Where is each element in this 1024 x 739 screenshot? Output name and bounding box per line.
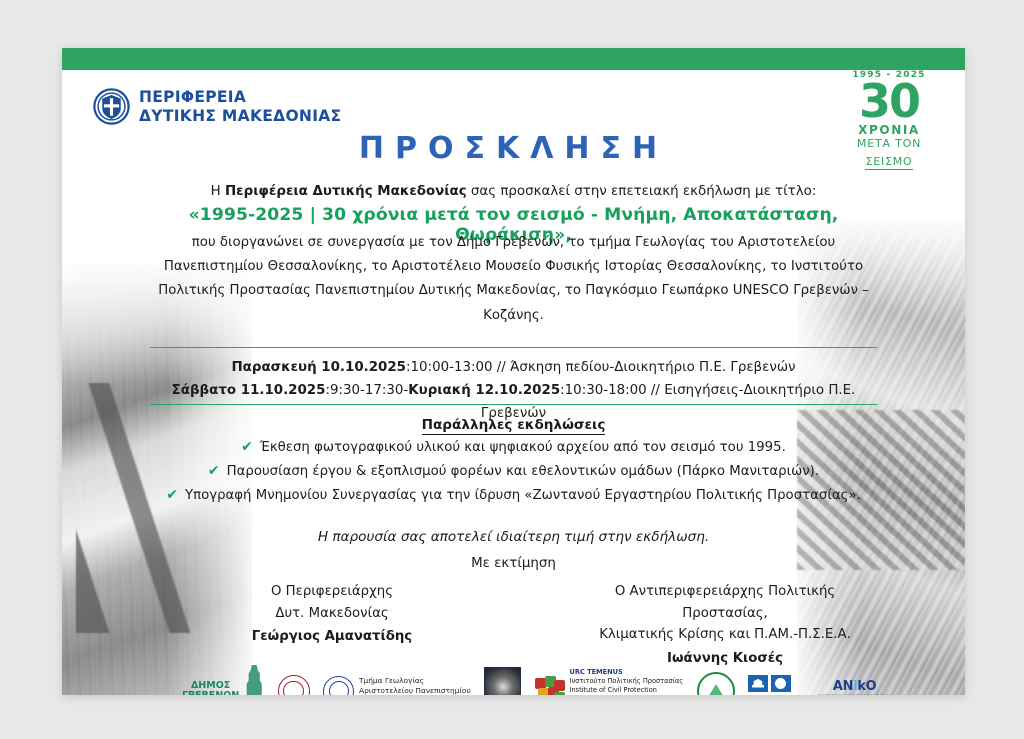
signature-right-role2: Κλιματικής Κρίσης και Π.ΑΜ.-Π.Σ.Ε.Α. bbox=[575, 624, 875, 646]
lead-paragraph: Η Περιφέρεια Δυτικής Μακεδονίας σας προσ… bbox=[140, 184, 887, 199]
schedule-block: Παρασκευή 10.10.2025:10:00-13:00 // Άσκη… bbox=[140, 356, 887, 425]
parallel-events-title-text: Παράλληλες εκδηλώσεις bbox=[422, 417, 606, 435]
urc-line3: Institute of Civil Protection bbox=[570, 686, 684, 695]
closing-line-1: Η παρουσία σας αποτελεί ιδιαίτερη τιμή σ… bbox=[140, 529, 887, 545]
aristotle-natural-history-museum-logo: ΑΜΦΝΙΟ bbox=[484, 667, 521, 696]
schedule-day-3: Κυριακή 12.10.2025 bbox=[408, 383, 560, 398]
geology-department-logo: Τμήμα Γεωλογίας Αριστοτελείου Πανεπιστημ… bbox=[323, 676, 471, 696]
divider-bottom bbox=[150, 404, 877, 405]
check-icon: ✔ bbox=[166, 488, 178, 502]
geopark-logo-icon bbox=[697, 672, 735, 695]
geology-text-line1: Τμήμα Γεωλογίας bbox=[359, 676, 471, 686]
schedule-row-1: Παρασκευή 10.10.2025:10:00-13:00 // Άσκη… bbox=[140, 356, 887, 379]
region-logo-line1: ΠΕΡΙΦΕΡΕΙΑ bbox=[139, 88, 341, 106]
partner-logos-strip: ΔΗΜΟΣ ΓΡΕΒΕΝΩΝ Τμήμα Γεωλογίας Αριστοτελ… bbox=[182, 652, 905, 695]
list-item: ✔ Υπογραφή Μνημονίου Συνεργασίας για την… bbox=[140, 488, 887, 503]
lead-bold: Περιφέρεια Δυτικής Μακεδονίας bbox=[225, 184, 467, 199]
screenshot-stage: ΠΕΡΙΦΕΡΕΙΑ ΔΥΤΙΚΗΣ ΜΑΚΕΔΟΝΙΑΣ 1995 - 202… bbox=[0, 0, 1024, 739]
schedule-day-1: Παρασκευή 10.10.2025 bbox=[231, 360, 406, 375]
anko-wordmark: ANikO bbox=[804, 679, 905, 694]
list-item: ✔ Έκθεση φωτογραφικού υλικού και ψηφιακο… bbox=[140, 440, 887, 455]
check-icon: ✔ bbox=[208, 464, 220, 478]
parallel-events-title: Παράλληλες εκδηλώσεις bbox=[140, 417, 887, 433]
anko-logo: ANikO ΑΝΑΠΤΥΞΙΑΚΗ ΔΥΤΙΚΗΣ ΜΑΚΕΔΟΝΙΑΣ Α.Ε… bbox=[804, 679, 905, 695]
divider-top bbox=[150, 347, 877, 348]
list-item-label: Παρουσίαση έργου & εξοπλισμού φορέων και… bbox=[227, 464, 819, 479]
list-item-label: Υπογραφή Μνημονίου Συνεργασίας για την ί… bbox=[185, 488, 861, 503]
list-item: ✔ Παρουσίαση έργου & εξοπλισμού φορέων κ… bbox=[140, 464, 887, 479]
grevena-tower-icon bbox=[244, 665, 264, 695]
schedule-detail-1: :10:00-13:00 // Άσκηση πεδίου-Διοικητήρι… bbox=[406, 360, 796, 375]
signature-right-role1: Ο Αντιπεριφερειάρχης Πολιτικής Προστασία… bbox=[575, 581, 875, 624]
invitation-poster: ΠΕΡΙΦΕΡΕΙΑ ΔΥΤΙΚΗΣ ΜΑΚΕΔΟΝΙΑΣ 1995 - 202… bbox=[62, 48, 965, 695]
greek-coat-of-arms-icon bbox=[93, 88, 130, 125]
region-logo: ΠΕΡΙΦΕΡΕΙΑ ΔΥΤΙΚΗΣ ΜΑΚΕΔΟΝΙΑΣ bbox=[93, 88, 341, 125]
unesco-logo: unesco Global Geopark bbox=[748, 675, 791, 696]
urc-temenus-logo: URC TEMENUS Ινστιτούτο Πολιτικής Προστασ… bbox=[535, 668, 684, 695]
urc-line2: Ινστιτούτο Πολιτικής Προστασίας bbox=[570, 677, 684, 686]
grevena-line2: ΓΡΕΒΕΝΩΝ bbox=[182, 691, 239, 695]
schedule-mid-2: :9:30-17:30- bbox=[325, 383, 408, 398]
region-logo-line2: ΔΥΤΙΚΗΣ ΜΑΚΕΔΟΝΙΑΣ bbox=[139, 107, 341, 125]
list-item-label: Έκθεση φωτογραφικού υλικού και ψηφιακού … bbox=[260, 440, 786, 455]
signature-left-name: Γεώργιος Αμανατίδης bbox=[182, 626, 482, 648]
schedule-day-2: Σάββατο 11.10.2025 bbox=[172, 383, 326, 398]
anko-word-a: AN bbox=[833, 679, 853, 694]
auth-university-seal-icon bbox=[278, 675, 310, 695]
geology-department-seal-icon bbox=[323, 676, 354, 696]
check-icon: ✔ bbox=[241, 440, 253, 454]
urc-temenus-knot-icon bbox=[535, 676, 565, 695]
lead-before: Η bbox=[211, 184, 225, 199]
lead-after: σας προσκαλεί στην επετειακή εκδήλωση με… bbox=[467, 184, 817, 199]
anniversary-number: 30 bbox=[839, 80, 939, 122]
unesco-globe-icon bbox=[771, 675, 791, 692]
urc-line1: URC TEMENUS bbox=[570, 668, 684, 677]
unesco-wordmark: unesco bbox=[748, 693, 791, 696]
signature-left-role1: Ο Περιφερειάρχης bbox=[182, 581, 482, 603]
grevena-municipality-logo: ΔΗΜΟΣ ΓΡΕΒΕΝΩΝ bbox=[182, 665, 264, 695]
geology-text-line2: Αριστοτελείου Πανεπιστημίου bbox=[359, 686, 471, 695]
unesco-temple-icon bbox=[748, 675, 768, 692]
signature-left-role2: Δυτ. Μακεδονίας bbox=[182, 603, 482, 625]
closing-line-2: Με εκτίμηση bbox=[140, 556, 887, 571]
organizers-paragraph: που διοργανώνει σε συνεργασία με τον Δήμ… bbox=[140, 231, 887, 328]
page-title: ΠΡΟΣΚΛΗΣΗ bbox=[62, 131, 965, 166]
anko-word-k: kO bbox=[857, 679, 876, 694]
parallel-events-list: ✔ Έκθεση φωτογραφικού υλικού και ψηφιακο… bbox=[140, 440, 887, 512]
anko-subtitle-1: ΑΝΑΠΤΥΞΙΑΚΗ ΔΥΤΙΚΗΣ ΜΑΚΕΔΟΝΙΑΣ Α.Ε. bbox=[804, 694, 905, 695]
